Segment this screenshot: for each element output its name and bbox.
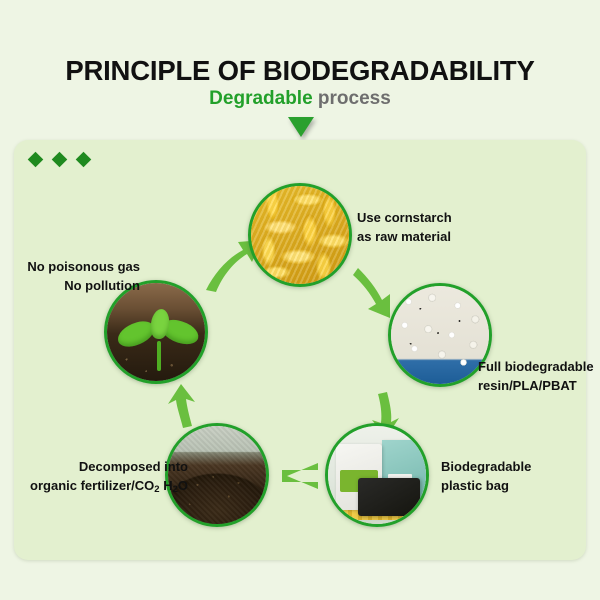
label-line: No pollution [12,277,140,296]
green-sprout-photo [107,283,205,381]
leaf-shape [149,308,171,340]
page-title: PRINCIPLE OF BIODEGRADABILITY [0,55,600,87]
subtitle-grey-word: process [313,88,391,109]
label-line: organic fertilizer/CO2 H2O [18,477,188,496]
stem-shape [157,341,161,371]
label-line: No poisonous gas [12,258,140,277]
label-line: plastic bag [441,477,531,496]
label-part: O [178,478,188,493]
label-plastic-bag: Biodegradable plastic bag [441,458,531,496]
corn-cobs-photo [251,186,349,284]
black-bag [358,478,420,516]
diamond-icon [76,152,92,168]
label-line: as raw material [357,228,452,247]
label-line: resin/PLA/PBAT [478,377,594,396]
label-line: Use cornstarch [357,209,452,228]
label-resin: Full biodegradable resin/PLA/PBAT [478,358,594,396]
label-subscript: 2 [154,484,159,495]
label-subscript: 2 [173,484,178,495]
node-plastic-bag[interactable] [325,423,429,527]
diamond-icon [52,152,68,168]
resin-pellets-photo [391,286,489,384]
decorative-diamonds [30,154,89,165]
label-compost: Decomposed into organic fertilizer/CO2 H… [18,458,188,496]
node-resin[interactable] [388,283,492,387]
diamond-icon [28,152,44,168]
label-line: Full biodegradable [478,358,594,377]
label-no-pollution: No poisonous gas No pollution [12,258,140,296]
label-cornstarch: Use cornstarch as raw material [357,209,452,247]
leaf-shape [115,318,158,350]
label-part: H [160,478,173,493]
leaf-shape [159,317,201,346]
plastic-bags-photo [328,426,426,524]
subtitle-green-word: Degradable [209,88,312,109]
page-subtitle: Degradable process [0,88,600,110]
label-line: Decomposed into [18,458,188,477]
node-cornstarch[interactable] [248,183,352,287]
infographic-canvas: PRINCIPLE OF BIODEGRADABILITY Degradable… [0,0,600,600]
label-line: Biodegradable [441,458,531,477]
label-part: organic fertilizer/CO [30,478,154,493]
down-triangle-icon [288,117,314,137]
